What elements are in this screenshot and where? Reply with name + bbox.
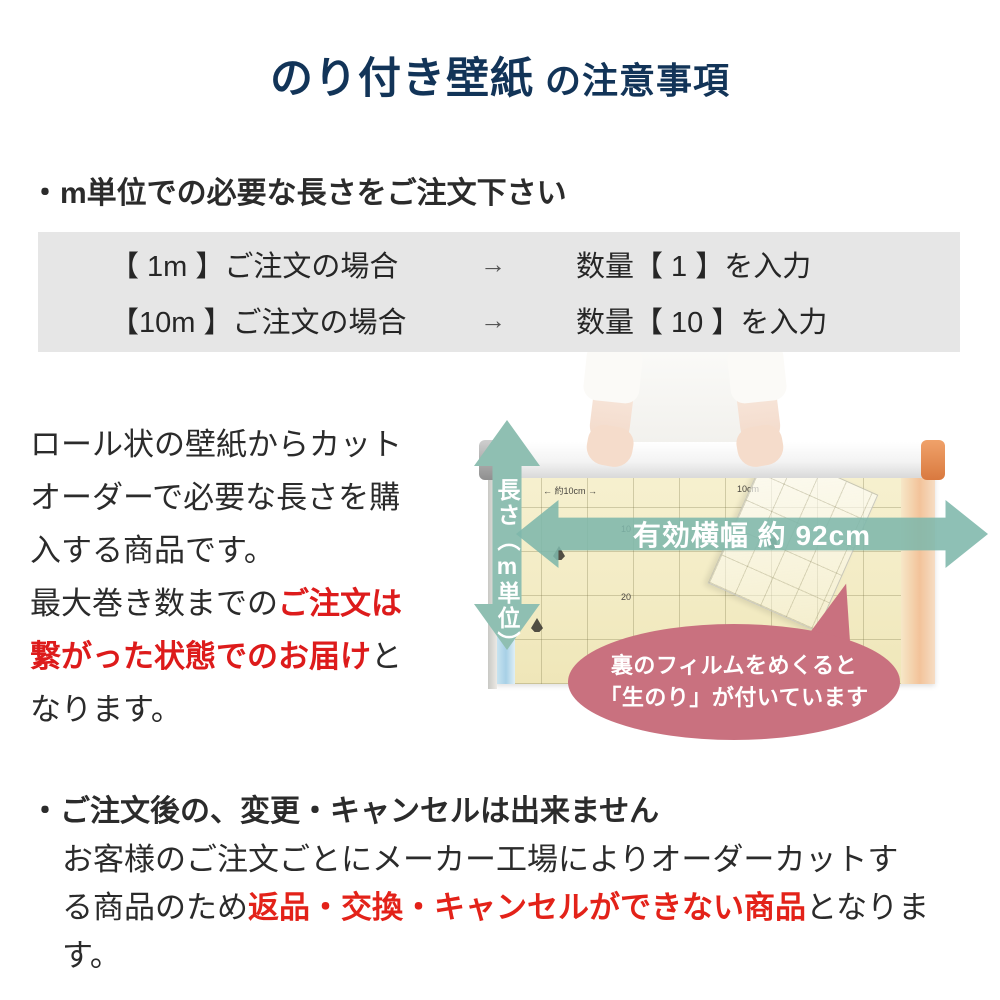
bottom-copy-line-2-red: 返品・交換・キャンセルができない商品 xyxy=(248,890,806,925)
order-row-1m-left: 【 1m 】ご注文の場合 xyxy=(38,243,438,285)
page-root: のり付き壁紙 の注意事項 ・m単位での必要な長さをご注文下さい 【 1m 】ご注… xyxy=(0,0,1000,1000)
bullet-no-cancel: ・ご注文後の、変更・キャンセルは出来ません xyxy=(30,786,659,830)
left-copy-line-5: 繋がった状態でのお届けと xyxy=(30,630,460,683)
model-sleeve-right xyxy=(726,352,788,405)
left-copy-line-5-red: 繋がった状態でのお届け xyxy=(30,639,371,674)
length-arrow-label: 長さ（m単位） xyxy=(481,478,533,656)
left-copy-line-3: 入する商品です。 xyxy=(30,524,460,577)
order-row-1m-right: 数量【 1 】を入力 xyxy=(548,243,960,285)
left-copy-line-4: 最大巻き数までのご注文は xyxy=(30,577,460,630)
order-example-row-10m: 【10m 】ご注文の場合 → 数量【 10 】を入力 xyxy=(38,290,960,350)
bottom-description-copy: お客様のご注文ごとにメーカー工場によりオーダーカットす る商品のため返品・交換・… xyxy=(62,836,992,980)
left-copy-line-2: オーダーで必要な長さを購 xyxy=(30,471,460,524)
bottom-copy-line-1: お客様のご注文ごとにメーカー工場によりオーダーカットす xyxy=(62,836,992,884)
roll-cap-right xyxy=(921,440,945,480)
arrow-right-icon-1: → xyxy=(438,249,548,280)
speech-bubble-line-2: 「生のり」が付いています xyxy=(568,682,900,714)
width-arrow-label: 有効横幅 約 92cm xyxy=(516,514,988,554)
arrow-right-icon-2: → xyxy=(438,305,548,336)
page-title-sub: の注意事項 xyxy=(534,60,730,101)
left-copy-line-4-plain: 最大巻き数までの xyxy=(30,586,278,621)
speech-bubble-text: 裏のフィルムをめくると 「生のり」が付いています xyxy=(568,650,900,714)
bottom-copy-line-3: す。 xyxy=(62,932,992,980)
bullet-order-in-meters: ・m単位での必要な長さをご注文下さい xyxy=(30,168,567,212)
bottom-copy-line-2-tail: となりま xyxy=(806,890,929,925)
bottom-copy-line-2-plain: る商品のため xyxy=(62,890,248,925)
speech-bubble-line-1: 裏のフィルムをめくると xyxy=(568,650,900,682)
left-copy-line-1: ロール状の壁紙からカット xyxy=(30,418,460,471)
wallpaper-roll-tube xyxy=(483,442,941,478)
model-sleeve-left xyxy=(582,352,644,405)
left-copy-line-6: なります。 xyxy=(30,683,460,736)
left-copy-line-5-plain: と xyxy=(371,639,402,674)
order-row-10m-right: 数量【 10 】を入力 xyxy=(548,299,960,341)
left-copy-line-4-red: ご注文は xyxy=(278,586,402,621)
wallpaper-edge-peach xyxy=(901,474,935,684)
page-title: のり付き壁紙 の注意事項 xyxy=(0,44,1000,106)
order-row-10m-left: 【10m 】ご注文の場合 xyxy=(38,299,438,341)
page-title-main: のり付き壁紙 xyxy=(270,55,534,103)
sheet-tick-20-label: 20 xyxy=(621,592,631,602)
left-description-copy: ロール状の壁紙からカット オーダーで必要な長さを購 入する商品です。 最大巻き数… xyxy=(30,418,460,736)
order-example-box: 【 1m 】ご注文の場合 → 数量【 1 】を入力 【10m 】ご注文の場合 →… xyxy=(38,232,960,352)
bottom-copy-line-2: る商品のため返品・交換・キャンセルができない商品となりま xyxy=(62,884,992,932)
sheet-scale-left-label: ← 約10cm → xyxy=(543,484,597,497)
order-example-row-1m: 【 1m 】ご注文の場合 → 数量【 1 】を入力 xyxy=(38,234,960,294)
